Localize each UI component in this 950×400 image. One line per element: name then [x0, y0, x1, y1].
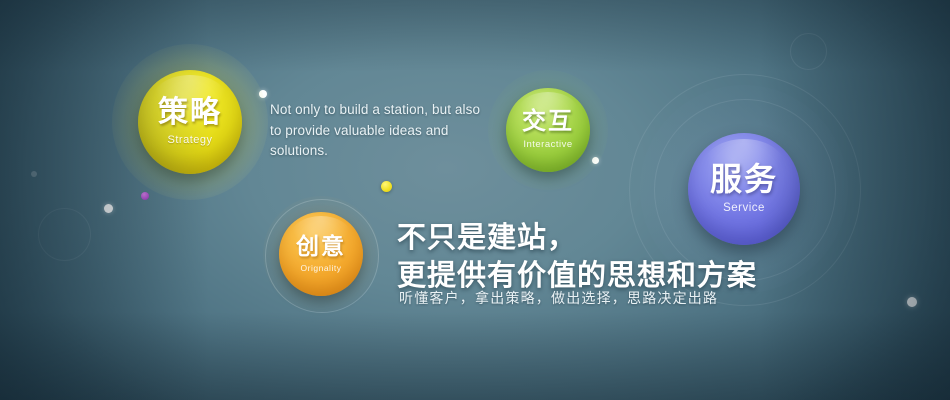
corner-shading-overlay	[0, 0, 950, 400]
sphere-interactive-label-en: Interactive	[523, 140, 572, 150]
vignette-overlay	[0, 0, 950, 400]
sphere-service-label-en: Service	[723, 203, 765, 215]
hero-banner: 策略 Strategy 交互 Interactive 创意 Orignality…	[0, 0, 950, 400]
sphere-originality-label-cn: 创意	[296, 235, 346, 258]
dot-white-right	[592, 157, 599, 164]
sphere-originality[interactable]: 创意 Orignality	[279, 212, 363, 296]
sphere-service-label-cn: 服务	[710, 163, 778, 195]
dot-yellow-mid	[381, 181, 392, 192]
headline: 不只是建站， 更提供有价值的思想和方案	[397, 219, 757, 296]
ring-left-large	[38, 208, 91, 261]
sphere-strategy-label-cn: 策略	[158, 98, 222, 128]
sphere-strategy-ball: 策略 Strategy	[138, 70, 242, 174]
english-tagline: Not only to build a station, but also to…	[270, 100, 500, 162]
subheadline: 听懂客户，拿出策略，做出选择，思路决定出路	[399, 288, 718, 308]
sphere-interactive-label-cn: 交互	[522, 110, 574, 134]
sphere-originality-ball: 创意 Orignality	[279, 212, 363, 296]
headline-line1: 不只是建站，	[397, 222, 577, 254]
english-tagline-line2: to provide valuable ideas and solutions.	[270, 121, 500, 162]
dot-purple-left	[141, 192, 149, 200]
english-tagline-line1: Not only to build a station, but also	[270, 102, 480, 117]
sphere-strategy-label-en: Strategy	[168, 135, 213, 146]
sphere-originality-label-en: Orignality	[301, 264, 342, 273]
dot-white-upper-mid	[259, 90, 267, 98]
dot-gray-far-left	[31, 171, 37, 177]
sphere-interactive[interactable]: 交互 Interactive	[506, 88, 590, 172]
dot-white-bottom-right	[907, 297, 917, 307]
ring-top-right	[790, 33, 827, 70]
sphere-strategy[interactable]: 策略 Strategy	[138, 70, 242, 174]
sphere-interactive-ball: 交互 Interactive	[506, 88, 590, 172]
dot-white-left	[104, 204, 113, 213]
